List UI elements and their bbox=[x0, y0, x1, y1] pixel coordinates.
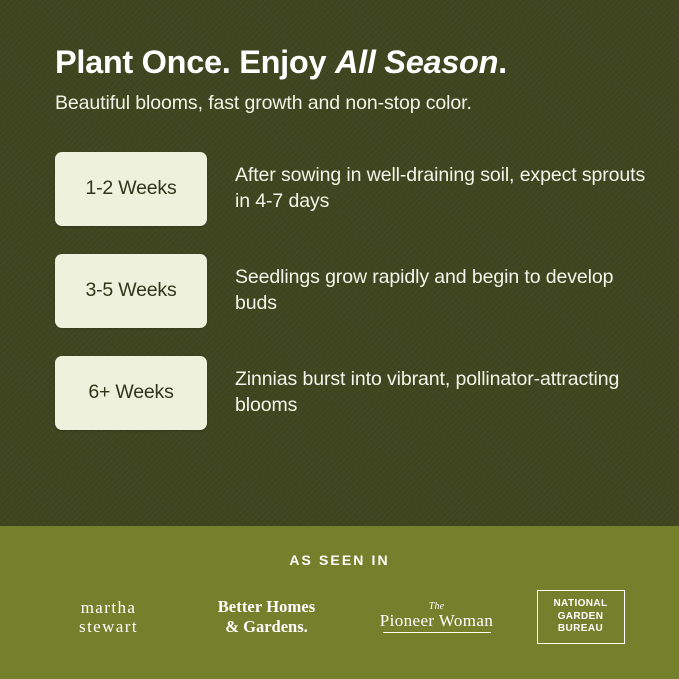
pioneer-line-2: Pioneer Woman bbox=[371, 611, 503, 630]
as-seen-in-title: AS SEEN IN bbox=[0, 526, 679, 568]
timeline-description: After sowing in well-draining soil, expe… bbox=[235, 163, 655, 215]
martha-stewart-line-1: martha bbox=[81, 598, 137, 617]
better-homes-gardens-logo: Better Homes & Gardens. bbox=[197, 598, 337, 636]
as-seen-in-band: AS SEEN IN martha stewart Better Homes &… bbox=[0, 526, 679, 679]
pioneer-rule bbox=[383, 632, 491, 633]
timeline-row: 3-5 Weeks Seedlings grow rapidly and beg… bbox=[55, 254, 679, 328]
subtitle: Beautiful blooms, fast growth and non-st… bbox=[55, 92, 639, 115]
pioneer-woman-logo: The Pioneer Woman bbox=[371, 601, 503, 633]
headline-block: Plant Once. Enjoy All Season. Beautiful … bbox=[0, 0, 679, 116]
logo-row: martha stewart Better Homes & Gardens. T… bbox=[0, 568, 679, 644]
timeline-badge: 1-2 Weeks bbox=[55, 152, 207, 226]
headline-part-3: . bbox=[498, 44, 507, 80]
martha-stewart-line-2: stewart bbox=[79, 617, 138, 636]
timeline-row: 6+ Weeks Zinnias burst into vibrant, pol… bbox=[55, 356, 679, 430]
headline-italic: All Season bbox=[335, 44, 498, 80]
upper-content: Plant Once. Enjoy All Season. Beautiful … bbox=[0, 0, 679, 430]
timeline-description: Seedlings grow rapidly and begin to deve… bbox=[235, 265, 655, 317]
headline-part-1: Plant Once. Enjoy bbox=[55, 44, 335, 80]
timeline-list: 1-2 Weeks After sowing in well-draining … bbox=[0, 116, 679, 430]
timeline-badge-label: 6+ Weeks bbox=[88, 381, 173, 404]
bhg-line-1: Better Homes bbox=[197, 598, 337, 616]
national-garden-bureau-logo: NATIONAL GARDEN BUREAU bbox=[537, 590, 625, 644]
bhg-line-2: & Gardens. bbox=[197, 618, 337, 636]
ngb-line-2: GARDEN bbox=[558, 611, 604, 624]
ngb-line-3: BUREAU bbox=[558, 623, 603, 636]
timeline-badge: 6+ Weeks bbox=[55, 356, 207, 430]
martha-stewart-logo: martha stewart bbox=[55, 598, 163, 636]
ngb-line-1: NATIONAL bbox=[553, 598, 607, 611]
page-title: Plant Once. Enjoy All Season. bbox=[55, 44, 639, 81]
timeline-row: 1-2 Weeks After sowing in well-draining … bbox=[55, 152, 679, 226]
timeline-badge-label: 3-5 Weeks bbox=[85, 279, 176, 302]
timeline-description: Zinnias burst into vibrant, pollinator-a… bbox=[235, 367, 655, 419]
timeline-badge-label: 1-2 Weeks bbox=[85, 177, 176, 200]
promo-graphic: Plant Once. Enjoy All Season. Beautiful … bbox=[0, 0, 679, 679]
timeline-badge: 3-5 Weeks bbox=[55, 254, 207, 328]
